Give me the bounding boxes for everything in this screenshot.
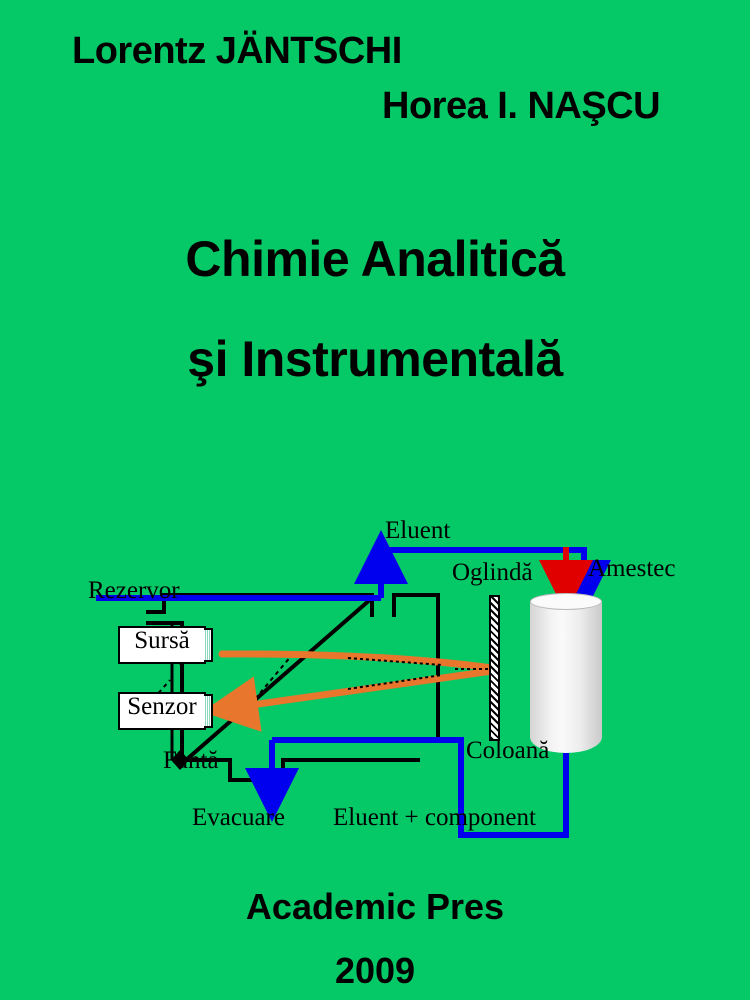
book-title-line-1: Chimie Analitică — [0, 230, 750, 288]
sensor-box: Senzor — [118, 692, 206, 730]
label-reservoir: Rezervor — [88, 578, 180, 603]
diagram-vector-layer — [0, 495, 750, 850]
label-eluent-component: Eluent + component — [333, 805, 536, 830]
source-box-stripes — [204, 628, 213, 662]
author-name-primary: Lorentz JÄNTSCHI — [72, 30, 402, 73]
source-box: Sursă — [118, 626, 206, 664]
sensor-box-label: Senzor — [127, 693, 196, 720]
author-name-secondary: Horea I. NAŞCU — [382, 85, 660, 128]
publication-year: 2009 — [0, 950, 750, 992]
hplc-detector-diagram: Sursă Senzor Eluent Rezervor Oglindă Ame… — [0, 495, 750, 850]
label-waste: Evacuare — [192, 805, 285, 830]
sensor-box-stripes — [204, 694, 213, 728]
chromatography-column-top — [530, 593, 602, 610]
book-title-line-2: şi Instrumentală — [0, 330, 750, 388]
label-mixture: Amestec — [588, 556, 675, 581]
label-mirror: Oglindă — [452, 560, 533, 585]
light-beam-paths — [222, 654, 492, 708]
label-slit: Fantă — [163, 748, 219, 773]
publisher-name: Academic Pres — [0, 886, 750, 928]
mirror-element — [489, 595, 500, 741]
chromatography-column-body — [530, 601, 602, 753]
book-cover: Lorentz JÄNTSCHI Horea I. NAŞCU Chimie A… — [0, 0, 750, 1000]
label-column: Coloană — [466, 738, 549, 763]
label-eluent-top: Eluent — [385, 518, 450, 543]
source-box-label: Sursă — [134, 627, 190, 654]
